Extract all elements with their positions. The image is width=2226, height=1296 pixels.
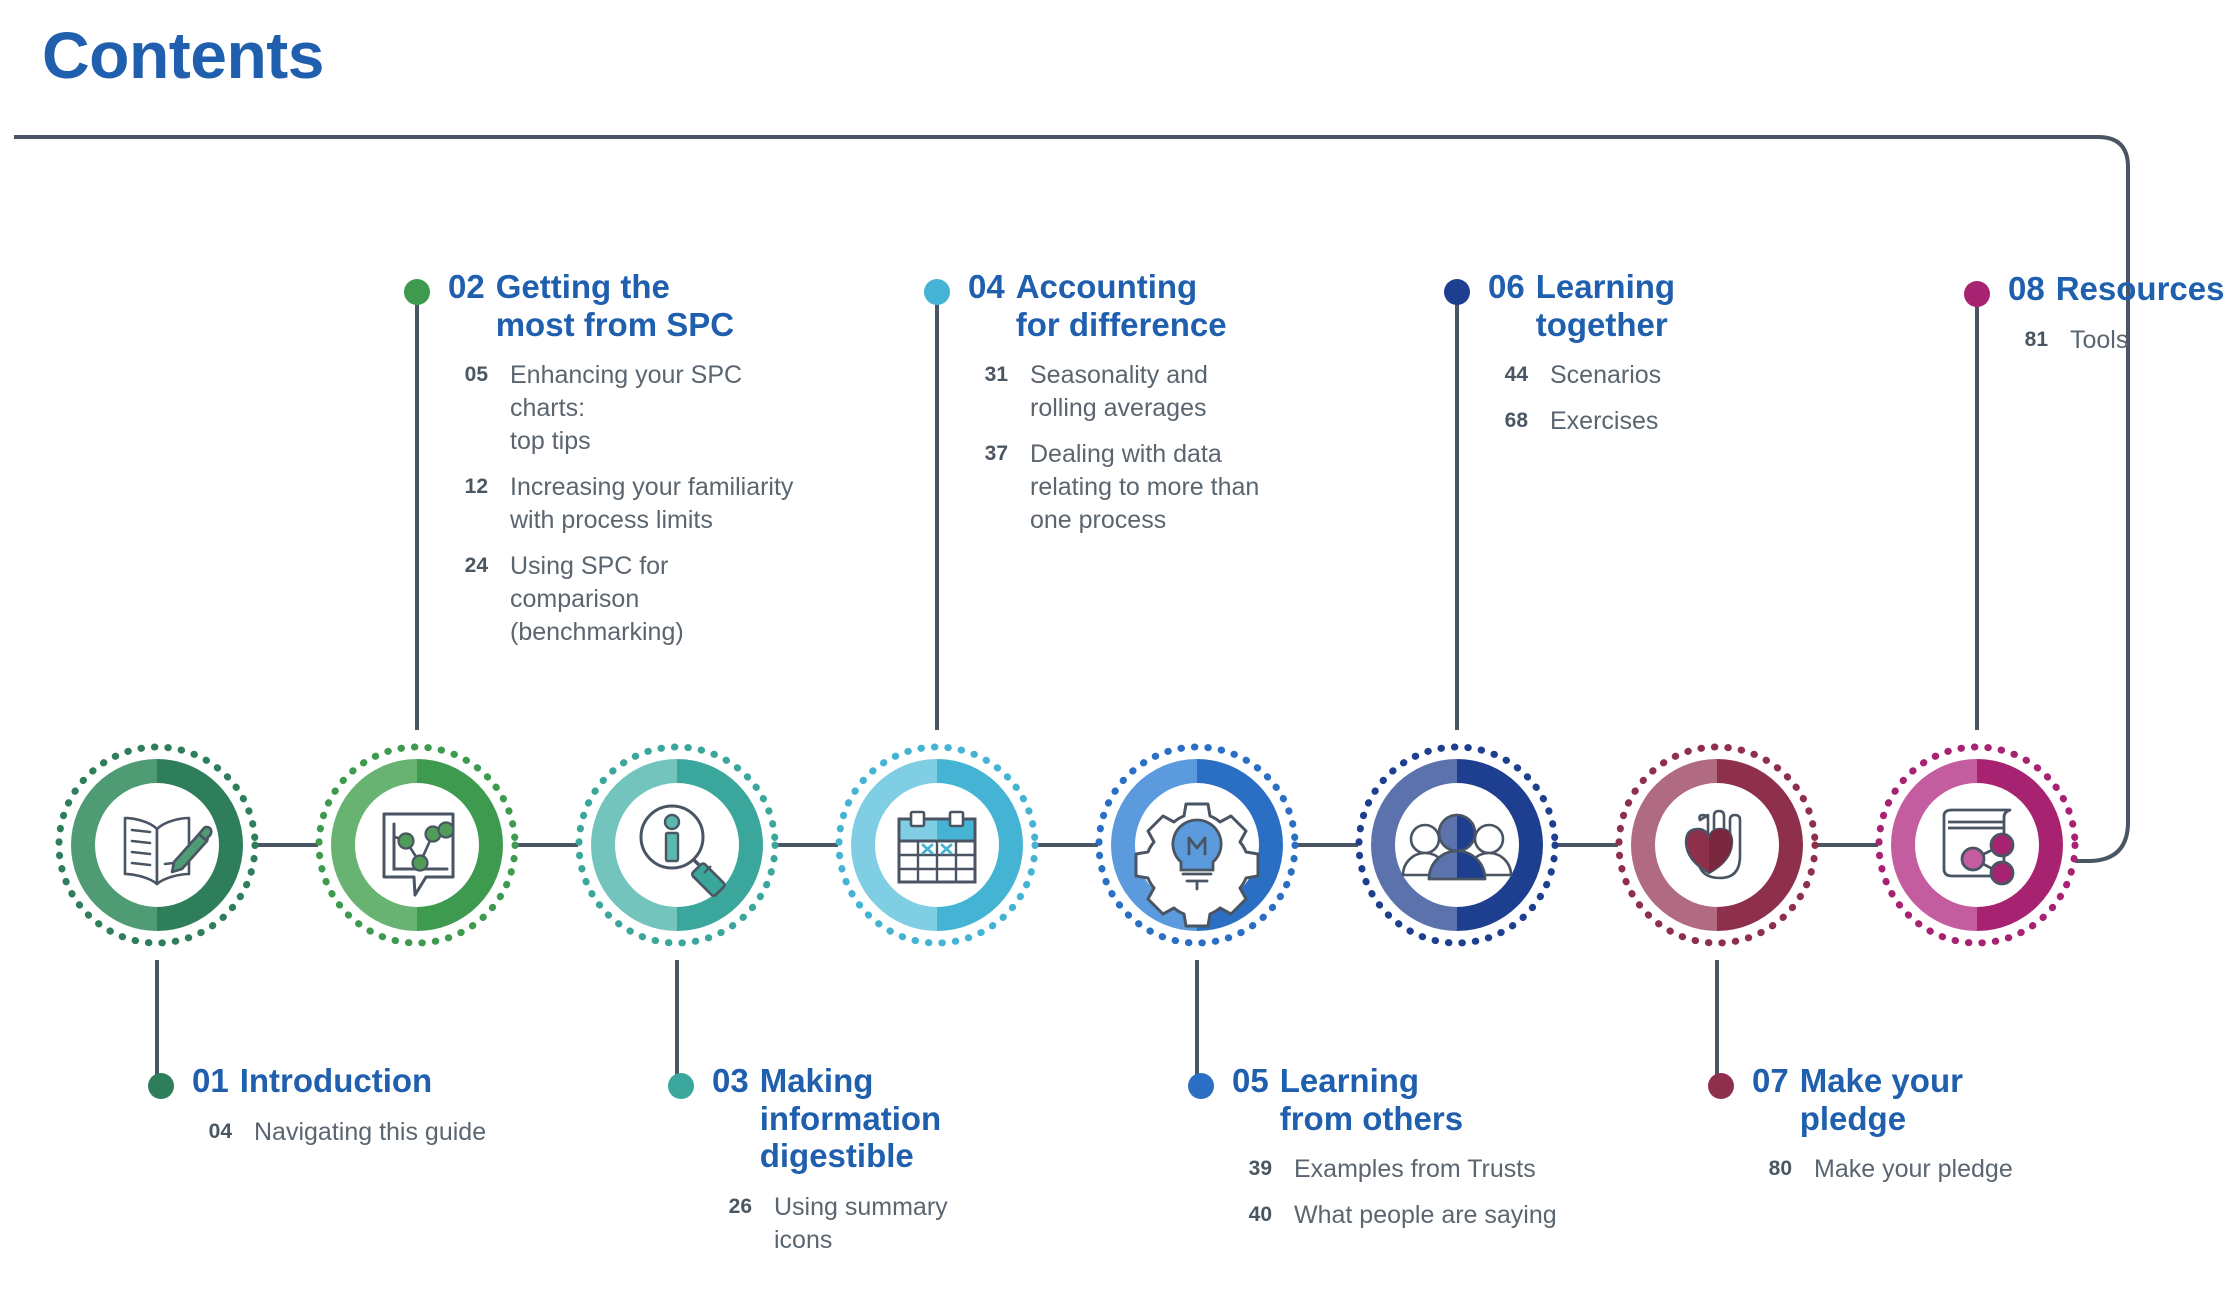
entry-06-sublist: 44 Scenarios 68 Exercises [1488, 359, 1784, 438]
list-item[interactable]: 12 Increasing your familiarity with proc… [448, 471, 804, 537]
entry-05-heading: 05 Learning from others [1188, 1062, 1568, 1137]
entry-04-sublist: 31 Seasonality and rolling averages 37 D… [968, 359, 1304, 537]
entry-01-heading: 01 Introduction [148, 1062, 548, 1100]
subitem-label: Increasing your familiarity with process… [510, 471, 793, 537]
subitem-label: Make your pledge [1814, 1153, 2013, 1186]
list-item[interactable]: 24 Using SPC for comparison (benchmarkin… [448, 550, 804, 649]
entry-07-sublist: 80 Make your pledge [1752, 1153, 2048, 1186]
entry-02[interactable]: 02 Getting the most from SPC 05 Enhancin… [404, 268, 804, 662]
entry-04-number: 04 [968, 268, 1005, 306]
list-item[interactable]: 04 Navigating this guide [192, 1116, 548, 1149]
entry-05-number: 05 [1232, 1062, 1269, 1100]
subitem-page: 31 [968, 359, 1008, 389]
bullet-05 [1188, 1073, 1214, 1099]
bullet-02 [404, 279, 430, 305]
bullet-04 [924, 279, 950, 305]
subitem-label: Enhancing your SPC charts: top tips [510, 359, 804, 458]
entry-01[interactable]: 01 Introduction 04 Navigating this guide [148, 1062, 548, 1162]
subitem-page: 12 [448, 471, 488, 501]
entry-02-number: 02 [448, 268, 485, 306]
entry-08-sublist: 81 Tools [2008, 324, 2226, 357]
entry-02-heading: 02 Getting the most from SPC [404, 268, 804, 343]
subitem-label: Navigating this guide [254, 1116, 486, 1149]
node-07-make-your-pledge[interactable] [1614, 742, 1820, 948]
entry-08-title: Resources [2056, 270, 2225, 308]
subitem-label: Tools [2070, 324, 2128, 357]
open-book-pencil-icon [125, 818, 189, 884]
bullet-03 [668, 1073, 694, 1099]
list-item[interactable]: 44 Scenarios [1488, 359, 1784, 392]
subitem-label: Dealing with data relating to more than … [1030, 438, 1259, 537]
subitem-page: 44 [1488, 359, 1528, 389]
entry-04-heading: 04 Accounting for difference [924, 268, 1304, 343]
subitem-page: 04 [192, 1116, 232, 1146]
subitem-page: 39 [1232, 1153, 1272, 1183]
entry-03-heading: 03 Making information digestible [668, 1062, 998, 1175]
entry-08-number: 08 [2008, 270, 2045, 308]
entry-07[interactable]: 07 Make your pledge 80 Make your pledge [1708, 1062, 2048, 1199]
node-01-introduction[interactable] [54, 742, 260, 948]
entry-06-title: Learning together [1536, 268, 1675, 343]
entry-03-number: 03 [712, 1062, 749, 1100]
subitem-page: 81 [2008, 324, 2048, 354]
node-04-accounting-for-difference[interactable] [834, 742, 1040, 948]
entry-06-number: 06 [1488, 268, 1525, 306]
entry-01-title: Introduction [240, 1062, 432, 1100]
entry-05-title: Learning from others [1280, 1062, 1463, 1137]
entry-03[interactable]: 03 Making information digestible 26 Usin… [668, 1062, 998, 1270]
list-item[interactable]: 05 Enhancing your SPC charts: top tips [448, 359, 804, 458]
subitem-label: Exercises [1550, 405, 1658, 438]
entry-02-sublist: 05 Enhancing your SPC charts: top tips 1… [448, 359, 804, 649]
subitem-label: Using SPC for comparison (benchmarking) [510, 550, 804, 649]
entry-05-sublist: 39 Examples from Trusts 40 What people a… [1232, 1153, 1568, 1232]
subitem-label: Seasonality and rolling averages [1030, 359, 1208, 425]
subitem-page: 37 [968, 438, 1008, 468]
subitem-page: 05 [448, 359, 488, 389]
calendar-icon [899, 812, 975, 882]
entry-02-title: Getting the most from SPC [496, 268, 734, 343]
list-item[interactable]: 68 Exercises [1488, 405, 1784, 438]
node-08-resources[interactable] [1874, 742, 2080, 948]
list-item[interactable]: 40 What people are saying [1232, 1199, 1568, 1232]
entry-07-title: Make your pledge [1800, 1062, 1963, 1137]
entry-01-sublist: 04 Navigating this guide [192, 1116, 548, 1149]
entry-04[interactable]: 04 Accounting for difference 31 Seasonal… [924, 268, 1304, 550]
entry-03-sublist: 26 Using summary icons [712, 1191, 998, 1257]
entry-03-title: Making information digestible [760, 1062, 941, 1175]
bullet-01 [148, 1073, 174, 1099]
list-item[interactable]: 80 Make your pledge [1752, 1153, 2048, 1186]
entry-06-heading: 06 Learning together [1444, 268, 1784, 343]
subitem-label: Examples from Trusts [1294, 1153, 1536, 1186]
subitem-page: 40 [1232, 1199, 1272, 1229]
list-item[interactable]: 39 Examples from Trusts [1232, 1153, 1568, 1186]
subitem-page: 26 [712, 1191, 752, 1221]
bullet-08 [1964, 281, 1990, 307]
list-item[interactable]: 31 Seasonality and rolling averages [968, 359, 1304, 425]
node-06-learning-together[interactable] [1354, 742, 1560, 948]
list-item[interactable]: 81 Tools [2008, 324, 2226, 357]
bullet-06 [1444, 279, 1470, 305]
entry-05[interactable]: 05 Learning from others 39 Examples from… [1188, 1062, 1568, 1245]
subitem-page: 80 [1752, 1153, 1792, 1183]
contents-page: Contents [0, 0, 2226, 1296]
entry-08[interactable]: 08 Resources 81 Tools [1964, 270, 2226, 370]
entry-06[interactable]: 06 Learning together 44 Scenarios 68 Exe… [1444, 268, 1784, 451]
subitem-label: Scenarios [1550, 359, 1661, 392]
subitem-page: 68 [1488, 405, 1528, 435]
subitem-label: Using summary icons [774, 1191, 998, 1257]
entry-08-heading: 08 Resources [1964, 270, 2226, 308]
bullet-07 [1708, 1073, 1734, 1099]
entry-07-number: 07 [1752, 1062, 1789, 1100]
subitem-label: What people are saying [1294, 1199, 1557, 1232]
list-item[interactable]: 37 Dealing with data relating to more th… [968, 438, 1304, 537]
entry-04-title: Accounting for difference [1016, 268, 1227, 343]
page-title: Contents [42, 22, 324, 88]
node-05-learning-from-others[interactable] [1094, 742, 1300, 948]
node-02-getting-most-from-spc[interactable] [314, 742, 520, 948]
entry-07-heading: 07 Make your pledge [1708, 1062, 2048, 1137]
subitem-page: 24 [448, 550, 488, 580]
list-item[interactable]: 26 Using summary icons [712, 1191, 998, 1257]
entry-01-number: 01 [192, 1062, 229, 1100]
node-03-making-information-digestible[interactable] [574, 742, 780, 948]
